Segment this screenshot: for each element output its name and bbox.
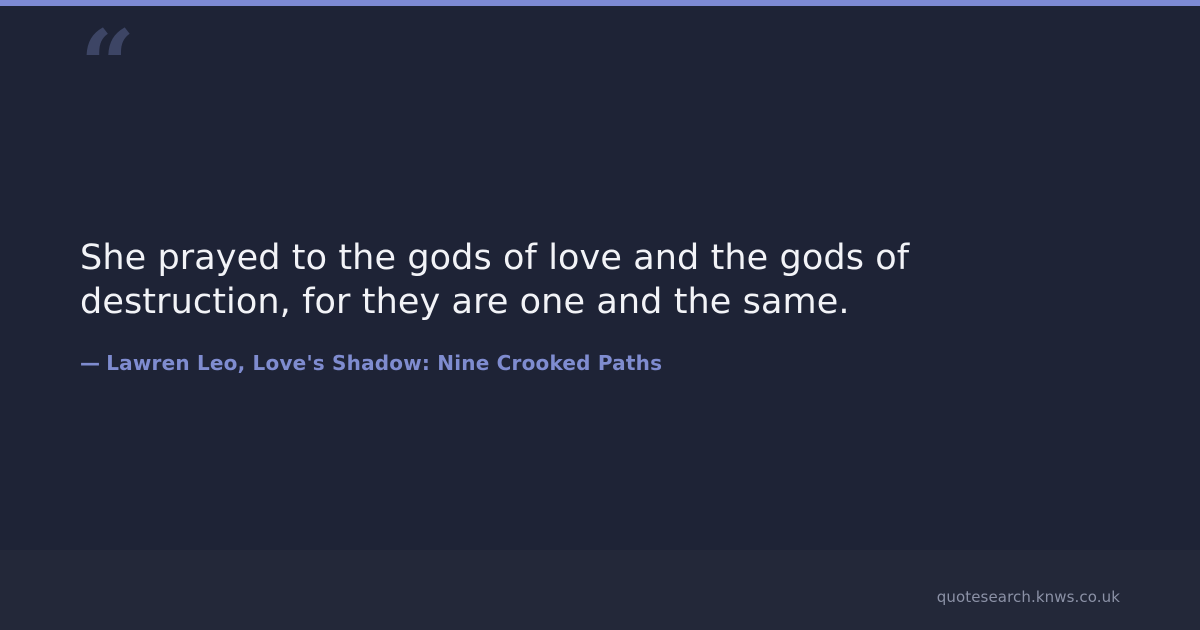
quote-attribution: —Lawren Leo, Love's Shadow: Nine Crooked…: [80, 324, 1100, 376]
quote-card: “ She prayed to the gods of love and the…: [0, 0, 1200, 630]
open-quote-icon: “: [80, 18, 140, 88]
attribution-label: Lawren Leo, Love's Shadow: Nine Crooked …: [106, 351, 662, 375]
top-accent-bar: [0, 0, 1200, 6]
quote-block: She prayed to the gods of love and the g…: [80, 236, 1100, 376]
source-site-label: quotesearch.knws.co.uk: [937, 588, 1120, 606]
attribution-dash: —: [80, 351, 100, 375]
quote-text: She prayed to the gods of love and the g…: [80, 236, 1100, 324]
